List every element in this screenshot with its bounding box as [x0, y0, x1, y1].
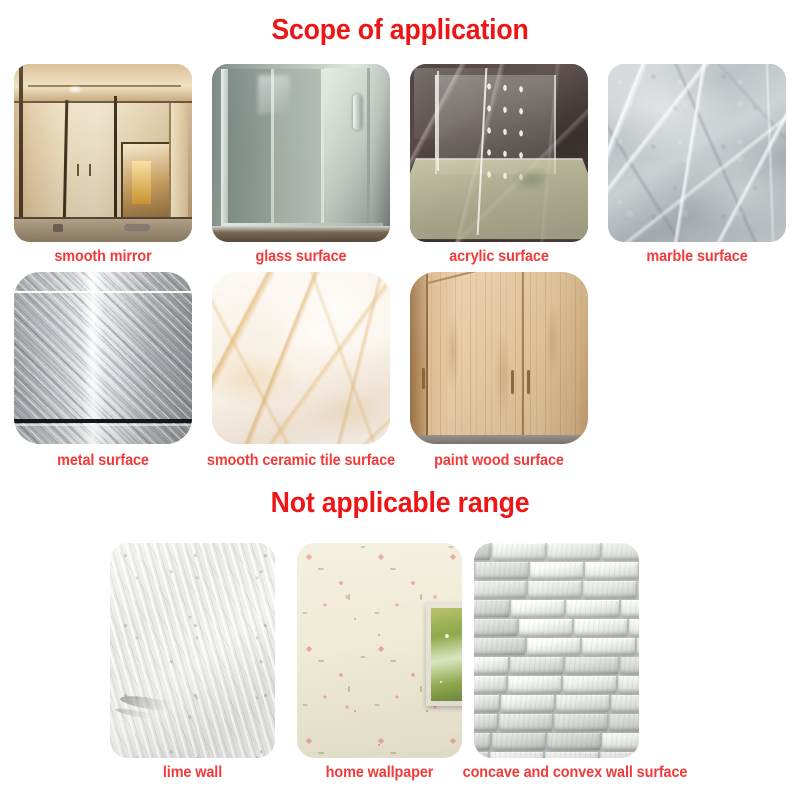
- stone-brick: [527, 638, 580, 655]
- stone-brick: [474, 714, 497, 731]
- sample-label-ceramic-tile-surface: smooth ceramic tile surface: [203, 452, 398, 470]
- stone-brick: [600, 752, 639, 758]
- stone-brick: [563, 676, 616, 693]
- stone-brick: [474, 657, 508, 674]
- sample-label-acrylic-surface: acrylic surface: [416, 248, 582, 266]
- stone-brick: [475, 562, 528, 579]
- texture-smooth-mirror: [14, 64, 192, 242]
- sample-tile-paint-wood-surface: [410, 272, 588, 444]
- stone-brick: [621, 600, 639, 617]
- stone-brick: [638, 581, 639, 598]
- sample-tile-concave-convex-wall-surface: [474, 543, 639, 758]
- sample-label-metal-surface: metal surface: [20, 452, 186, 470]
- sample-label-glass-surface: glass surface: [218, 248, 384, 266]
- sample-tile-metal-surface: [14, 272, 192, 444]
- stone-brick: [490, 752, 543, 758]
- wall-picture-frame: [426, 603, 462, 706]
- sample-label-concave-convex-wall-surface: concave and convex wall surface: [459, 764, 692, 782]
- stone-brick: [474, 619, 517, 636]
- stone-brick: [519, 619, 572, 636]
- sample-label-lime-wall: lime wall: [116, 764, 269, 782]
- texture-glass-surface: [212, 64, 390, 242]
- sample-label-smooth-mirror: smooth mirror: [20, 248, 186, 266]
- stone-brick: [492, 543, 545, 560]
- stone-brick: [545, 752, 598, 758]
- stone-brick: [474, 733, 490, 750]
- stone-brick: [547, 543, 600, 560]
- texture-acrylic-surface: [410, 64, 588, 242]
- stone-brick: [611, 695, 639, 712]
- stone-brick: [602, 733, 639, 750]
- sample-label-paint-wood-surface: paint wood surface: [416, 452, 582, 470]
- sample-tile-ceramic-tile-surface: [212, 272, 390, 444]
- texture-ceramic-tile-surface: [212, 272, 390, 444]
- stone-brick: [618, 676, 639, 693]
- stone-brick: [474, 638, 525, 655]
- stone-brick: [474, 676, 506, 693]
- stone-brick: [585, 562, 638, 579]
- stone-brick: [508, 676, 561, 693]
- stone-brick: [499, 714, 552, 731]
- sample-tile-smooth-mirror: [14, 64, 192, 242]
- stone-brick: [474, 600, 509, 617]
- stone-brick: [547, 733, 600, 750]
- stone-brick: [474, 543, 490, 560]
- stone-brick: [474, 752, 488, 758]
- section-heading-scope: Scope of application: [32, 14, 768, 47]
- texture-metal-surface: [14, 272, 192, 444]
- stone-brick: [530, 562, 583, 579]
- stone-brick: [528, 581, 581, 598]
- stone-brick: [554, 714, 607, 731]
- infographic-page: Scope of application smooth mirror: [0, 0, 800, 800]
- stone-brick: [565, 657, 618, 674]
- stone-brick: [556, 695, 609, 712]
- stone-brick: [574, 619, 627, 636]
- texture-concave-convex-wall-surface: [474, 543, 639, 758]
- stone-brick: [501, 695, 554, 712]
- sample-tile-glass-surface: [212, 64, 390, 242]
- stone-brick: [602, 543, 639, 560]
- sample-tile-marble-surface: [608, 64, 786, 242]
- sample-tile-lime-wall: [110, 543, 275, 758]
- stone-brick: [583, 581, 636, 598]
- stone-brick: [620, 657, 639, 674]
- stone-brick: [609, 714, 639, 731]
- sample-label-home-wallpaper: home wallpaper: [303, 764, 456, 782]
- section-heading-not-applicable: Not applicable range: [32, 487, 768, 520]
- stone-brick: [511, 600, 564, 617]
- stone-brick: [629, 619, 639, 636]
- stone-brick: [474, 695, 499, 712]
- stone-brick: [510, 657, 563, 674]
- sample-tile-acrylic-surface: [410, 64, 588, 242]
- sample-tile-home-wallpaper: [297, 543, 462, 758]
- texture-lime-wall: [110, 543, 275, 758]
- sample-label-marble-surface: marble surface: [614, 248, 780, 266]
- stone-brick: [566, 600, 619, 617]
- stone-brick: [492, 733, 545, 750]
- texture-home-wallpaper: [297, 543, 462, 758]
- stone-brick: [582, 638, 635, 655]
- stone-brick: [637, 638, 639, 655]
- texture-paint-wood-surface: [410, 272, 588, 444]
- stone-brick: [474, 581, 526, 598]
- texture-marble-surface: [608, 64, 786, 242]
